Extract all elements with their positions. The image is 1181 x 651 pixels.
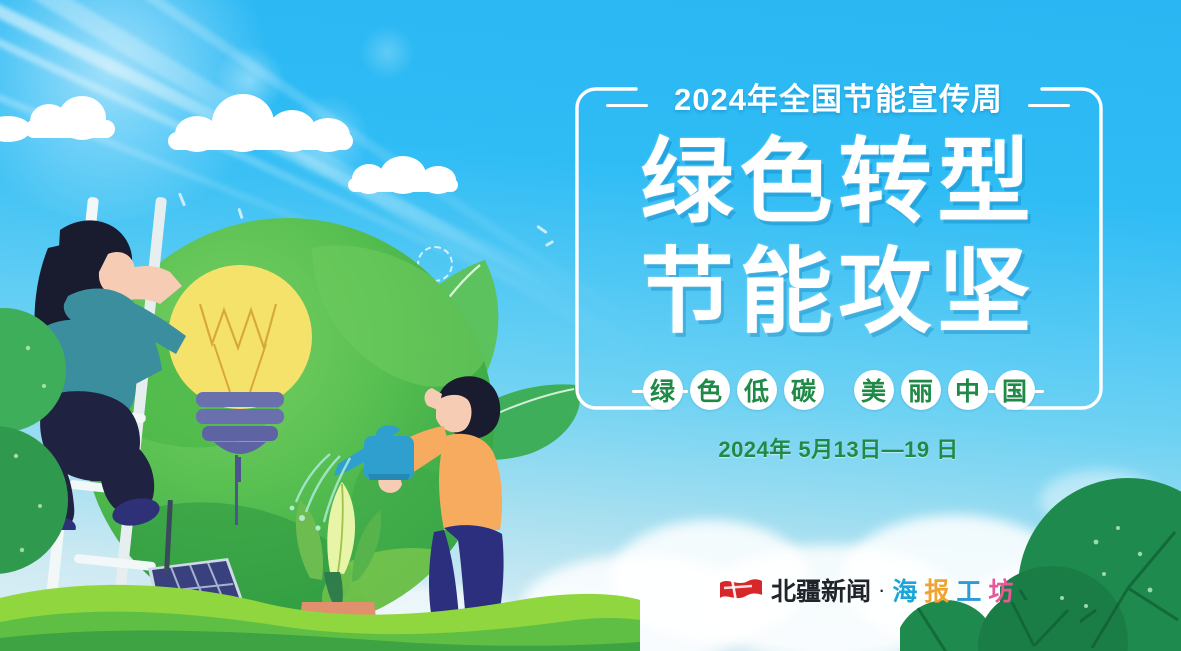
sub-brand-char: 报 (924, 572, 949, 608)
water-droplets (278, 452, 388, 542)
lens-flare-3 (360, 25, 415, 80)
subtitle-char: 绿 (643, 370, 683, 410)
subtitle-char: 色 (690, 370, 730, 410)
sub-brand-char: 工 (956, 572, 981, 608)
subtitle-char: 美 (854, 370, 894, 410)
campaign-header: 2024年全国节能宣传周 (576, 74, 1101, 119)
foliage-left-edge (0, 300, 70, 580)
text-panel: 2024年全国节能宣传周 绿色转型 节能攻坚 绿 色 低 碳 美 丽 中 国 2… (576, 88, 1101, 408)
subtitle-char: 碳 (784, 370, 824, 410)
sub-brand-char: 海 (892, 572, 917, 608)
subtitle-char: 中 (948, 370, 988, 410)
main-title-line-1: 绿色转型 (576, 136, 1101, 229)
foreground-grass (0, 560, 640, 651)
brand-logo[interactable]: 北疆新闻 · 海 报 工 坊 (718, 570, 1013, 610)
brand-separator: · (878, 577, 885, 603)
subtitle-slogan: 绿 色 低 碳 美 丽 中 国 (576, 370, 1101, 410)
sparkle (536, 225, 548, 234)
sub-brand-char: 坊 (988, 572, 1013, 608)
main-title-line-2: 节能攻坚 (576, 246, 1101, 339)
subtitle-char: 国 (995, 370, 1035, 410)
red-flag-icon (718, 575, 764, 605)
subtitle-char: 丽 (901, 370, 941, 410)
brand-name: 北疆新闻 (771, 572, 871, 608)
subtitle-char: 低 (737, 370, 777, 410)
date-range: 2024年 5月13日—19 日 (576, 432, 1101, 464)
energy-conservation-week-poster: 2024年全国节能宣传周 绿色转型 节能攻坚 绿 色 低 碳 美 丽 中 国 2… (0, 0, 1181, 651)
sparkle (545, 240, 554, 247)
